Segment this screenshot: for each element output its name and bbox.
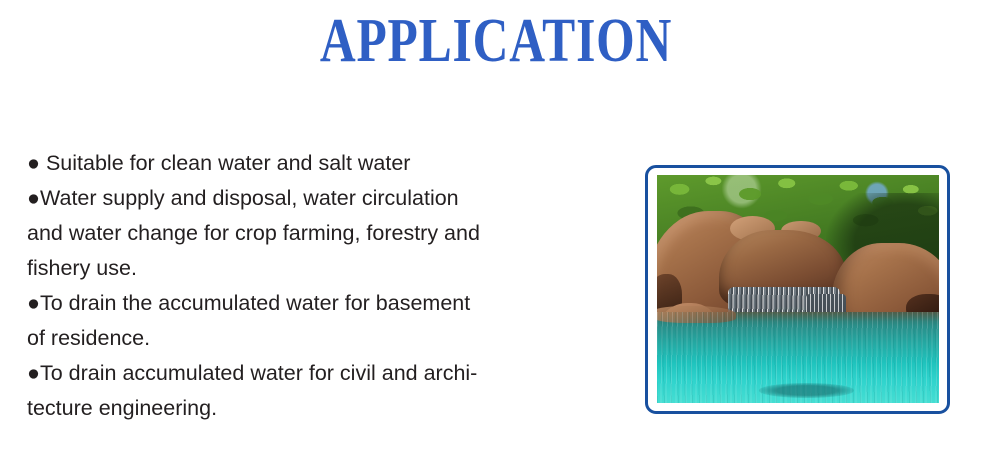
- application-line-text: ●Water supply and disposal, water circul…: [27, 186, 459, 210]
- page-title: APPLICATION: [99, 6, 893, 76]
- application-line: ●Water supply and disposal, water circul…: [27, 181, 543, 216]
- application-line-text: ●To drain the accumulated water for base…: [27, 291, 470, 315]
- application-line-text: tecture engineering.: [27, 396, 217, 420]
- application-line: tecture engineering.: [27, 391, 543, 426]
- application-line-text: fishery use.: [27, 256, 137, 280]
- pool-submerged-shadow: [759, 383, 855, 398]
- application-line: of residence.: [27, 321, 543, 356]
- application-text-block: ● Suitable for clean water and salt wate…: [27, 146, 543, 426]
- application-line: ● Suitable for clean water and salt wate…: [27, 146, 543, 181]
- application-line-text: of residence.: [27, 326, 150, 350]
- waterfall-photo: [657, 175, 939, 403]
- application-line: fishery use.: [27, 251, 543, 286]
- turquoise-pool: [657, 312, 939, 403]
- application-line-text: ● Suitable for clean water and salt wate…: [27, 151, 410, 175]
- application-line: ●To drain the accumulated water for base…: [27, 286, 543, 321]
- application-line-text: ●To drain accumulated water for civil an…: [27, 361, 477, 385]
- photo-frame: [645, 165, 950, 414]
- application-line: and water change for crop farming, fores…: [27, 216, 543, 251]
- application-line: ●To drain accumulated water for civil an…: [27, 356, 543, 391]
- application-line-text: and water change for crop farming, fores…: [27, 221, 480, 245]
